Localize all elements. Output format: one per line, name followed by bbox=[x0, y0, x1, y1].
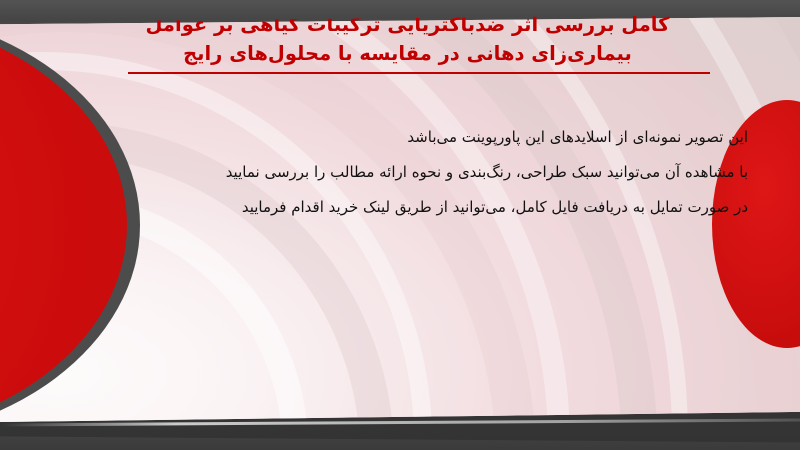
slide-title-line-2: بیماری‌زای دهانی در مقایسه با محلول‌های … bbox=[95, 39, 720, 68]
body-line-2: با مشاهده آن می‌توانید سبک طراحی، رنگ‌بن… bbox=[120, 155, 748, 190]
body-line-3: در صورت تمایل به دریافت فایل کامل، می‌تو… bbox=[120, 190, 748, 225]
left-red-lens-shape bbox=[0, 8, 140, 442]
title-underline-rule bbox=[128, 72, 710, 74]
body-line-1: این تصویر نمونه‌ای از اسلایدهای این پاور… bbox=[120, 120, 748, 155]
slide-body-text: این تصویر نمونه‌ای از اسلایدهای این پاور… bbox=[120, 120, 748, 225]
presentation-slide: کامل بررسی اثر ضدباکتریایی ترکیبات گیاهی… bbox=[0, 0, 800, 450]
